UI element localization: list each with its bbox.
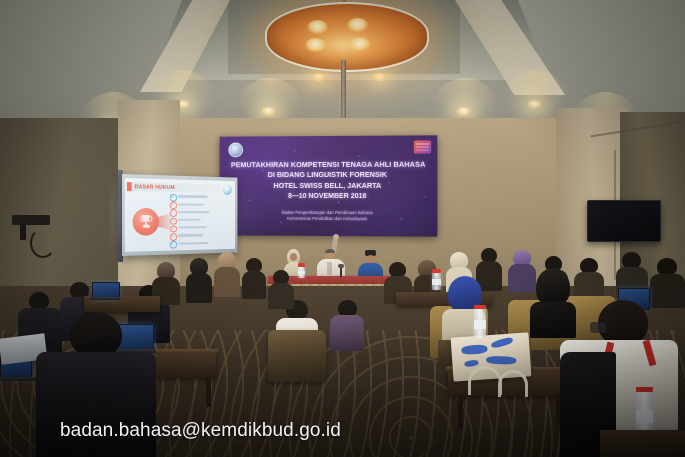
bullet-text-line [178, 211, 209, 213]
panelist-speaker [316, 238, 350, 280]
banner-title-line1: PEMUTAKHIRAN KOMPETENSI TENAGA AHLI BAHA… [220, 160, 438, 171]
attendee-table [600, 430, 685, 457]
event-logo-badge [414, 140, 431, 153]
bullet-marker-icon [170, 241, 177, 248]
tut-wuri-handayani-emblem [228, 142, 243, 157]
torso [214, 267, 240, 297]
event-banner: PEMUTAKHIRAN KOMPETENSI TENAGA AHLI BAHA… [220, 135, 438, 236]
slide-title: DASAR HUKUM [135, 183, 175, 193]
bullet-text-line [178, 219, 201, 221]
table-leg [458, 395, 463, 429]
wall-mounted-television [587, 200, 661, 242]
torso [186, 273, 212, 303]
tote-bag-handle [468, 366, 502, 395]
laptop-base [0, 377, 36, 381]
upper-drum-pendant-lamp [265, 2, 429, 72]
microphone-head [338, 264, 344, 268]
raised-hand [333, 234, 339, 240]
recessed-downlight [456, 107, 471, 116]
projection-screen: DASAR HUKUM [122, 174, 237, 256]
bullet-text-line [178, 203, 204, 205]
table-leg [206, 377, 211, 407]
attendee [186, 258, 212, 300]
water-bottle [298, 266, 305, 278]
water-bottle [474, 308, 486, 338]
torso [268, 283, 294, 309]
conference-photo: PEMUTAKHIRAN KOMPETENSI TENAGA AHLI BAHA… [0, 0, 685, 457]
trophy-glyph [141, 215, 150, 229]
tote-bag-handle [498, 370, 528, 397]
slide-bullet-list [170, 193, 232, 248]
torso [330, 315, 364, 351]
wall-tv-bracket [12, 215, 50, 225]
recessed-downlight [261, 107, 276, 116]
banner-org-block: Badan Pengembangan dan Pembinaan Bahasa … [220, 210, 438, 223]
eyeglasses [590, 322, 606, 333]
presentation-slide: DASAR HUKUM [125, 178, 235, 252]
attendee [330, 300, 364, 348]
attendee [574, 258, 604, 300]
banner-dates: 8—10 NOVEMBER 2018 [220, 191, 438, 203]
slide-bullet [170, 193, 232, 201]
banner-title-block: PEMUTAKHIRAN KOMPETENSI TENAGA AHLI BAHA… [220, 160, 438, 204]
lamp-bulb [305, 38, 326, 52]
recessed-downlight [527, 100, 542, 109]
shirt-placket [327, 262, 332, 275]
lamp-bulb [307, 20, 328, 34]
attendee [650, 258, 685, 306]
torso [242, 271, 266, 299]
microphone-stand [340, 268, 342, 277]
bullet-text-line [178, 234, 203, 237]
bullet-text-line [178, 195, 208, 198]
slide-bullet [170, 216, 232, 223]
slide-bullet [170, 209, 232, 216]
watermark-email: badan.bahasa@kemdikbud.go.id [60, 420, 341, 442]
attendee [268, 270, 294, 308]
attendee [214, 252, 240, 294]
slide-bullet [170, 201, 232, 209]
laptop-base [89, 297, 121, 300]
bullet-text-line [178, 242, 208, 245]
lamp-bulb [347, 18, 368, 32]
face [290, 253, 297, 261]
recessed-downlight [372, 73, 387, 82]
banner-title-line2: DI BIDANG LINGUISTIK FORENSIK [220, 170, 438, 181]
trophy-icon [133, 208, 159, 236]
banner-venue: HOTEL SWISS BELL, JAKARTA [220, 180, 438, 191]
recessed-downlight [311, 73, 326, 82]
lamp-bulb [349, 37, 370, 51]
slide-bullet [170, 224, 232, 232]
hair [325, 249, 335, 253]
icon-circle [133, 208, 159, 236]
hanging-cable [30, 228, 56, 258]
water-bottle [432, 272, 441, 290]
chair [268, 330, 326, 382]
slide-bullet [170, 239, 232, 248]
attendee [242, 258, 266, 298]
banner-org-line2: Kementerian Pendidikan dan Kebudayaan [220, 216, 438, 223]
wall-tv-bracket-arm [20, 224, 26, 240]
bullet-text-line [178, 226, 207, 228]
